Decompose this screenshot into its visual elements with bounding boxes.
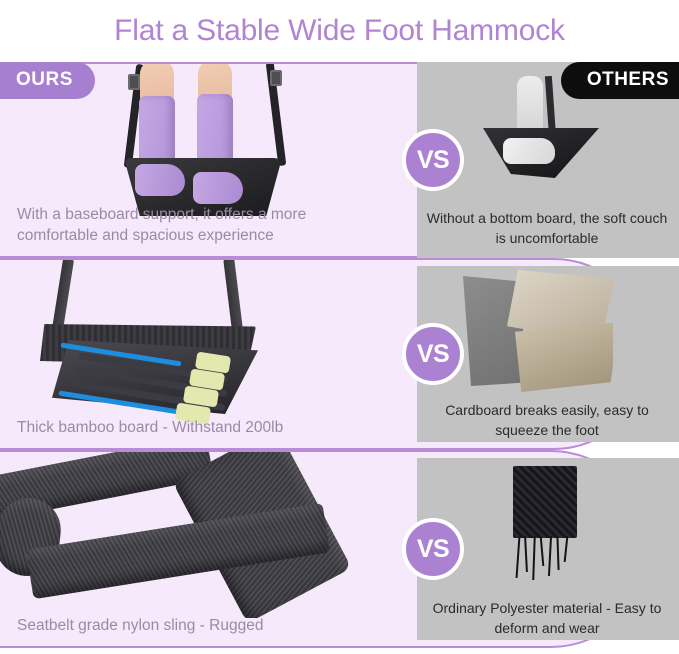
foot-shape bbox=[503, 138, 555, 164]
ours-caption: Thick bamboo board - Withstand 200lb bbox=[17, 418, 377, 439]
ours-product-photo bbox=[102, 62, 302, 220]
comparison-row: Seatbelt grade nylon sling - Rugged Ordi… bbox=[0, 450, 679, 648]
ours-product-photo bbox=[0, 452, 362, 618]
ours-caption: With a baseboard support, it offers a mo… bbox=[17, 205, 377, 247]
page-title-bar: Flat a Stable Wide Foot Hammock bbox=[0, 0, 679, 62]
vs-badge: VS bbox=[402, 323, 464, 385]
others-product-photo bbox=[507, 466, 585, 588]
fray-thread-shape bbox=[516, 536, 521, 578]
ours-product-photo bbox=[24, 258, 292, 434]
others-product-photo bbox=[463, 270, 613, 394]
buckle-shape bbox=[270, 70, 282, 86]
fray-thread-shape bbox=[524, 536, 528, 572]
others-caption: Cardboard breaks easily, easy to squeeze… bbox=[421, 401, 673, 440]
polyester-strap-shape bbox=[513, 466, 577, 538]
ours-badge: OURS bbox=[0, 62, 95, 99]
foot-shape bbox=[135, 164, 185, 196]
fray-thread-shape bbox=[540, 536, 545, 566]
comparison-row: Thick bamboo board - Withstand 200lb Car… bbox=[0, 258, 679, 450]
ours-caption: Seatbelt grade nylon sling - Rugged bbox=[17, 616, 377, 637]
page-title: Flat a Stable Wide Foot Hammock bbox=[114, 14, 565, 48]
buckle-shape bbox=[128, 74, 140, 90]
comparison-table: OURS OTHERS With a baseboard support, it… bbox=[0, 62, 679, 652]
others-badge: OTHERS bbox=[561, 62, 679, 99]
foot-shape bbox=[193, 172, 243, 204]
others-caption: Ordinary Polyester material - Easy to de… bbox=[421, 599, 673, 638]
comparison-row: OURS OTHERS With a baseboard support, it… bbox=[0, 62, 679, 258]
fray-thread-shape bbox=[556, 536, 559, 570]
fray-thread-shape bbox=[564, 536, 569, 562]
others-caption: Without a bottom board, the soft couch i… bbox=[421, 209, 673, 248]
vs-badge: VS bbox=[402, 518, 464, 580]
cardboard-piece-shape bbox=[515, 322, 613, 392]
fray-thread-shape bbox=[548, 536, 552, 576]
fray-thread-shape bbox=[532, 536, 536, 580]
vs-badge: VS bbox=[402, 129, 464, 191]
